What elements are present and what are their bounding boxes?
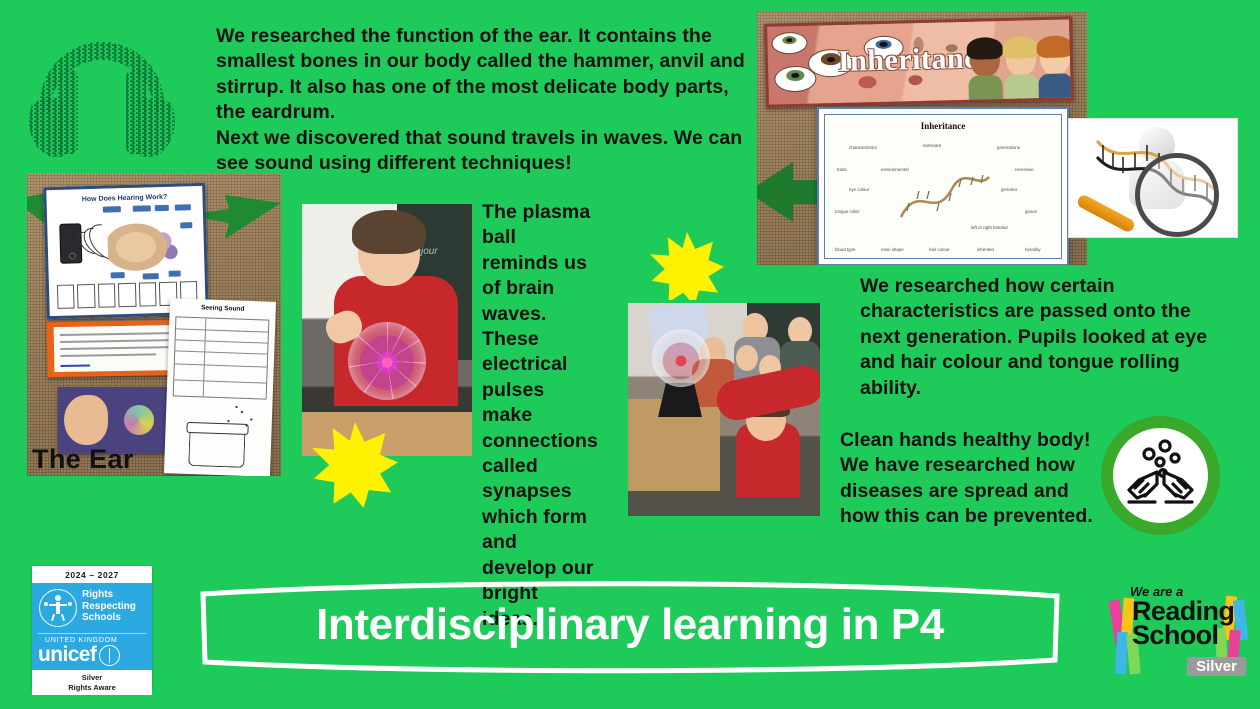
poster-word: heredity xyxy=(1025,247,1041,252)
inheritance-paragraph: We researched how certain characteristic… xyxy=(860,274,1232,401)
ear-research-paragraph: We researched the function of the ear. I… xyxy=(216,24,746,176)
poster-word: recessive xyxy=(1015,167,1034,172)
poster-word: generations xyxy=(997,145,1020,150)
green-arrow-icon xyxy=(757,162,793,222)
poster-word: traits xyxy=(837,167,847,172)
inheritance-word-poster: Inheritance characteristics dominant gen… xyxy=(817,107,1069,265)
dna-magnifying-glass-image xyxy=(1068,118,1238,238)
phone-illustration xyxy=(59,223,82,264)
poster-word: nose shape xyxy=(881,247,904,252)
reading-school-badge: We are a Reading School Silver xyxy=(1110,582,1250,678)
boy-plasma-ball-photo xyxy=(300,202,474,458)
poster-word: hair colour xyxy=(929,247,950,252)
plasma-ball-paragraph: The plasma ball reminds us of brain wave… xyxy=(482,200,594,632)
plasma-ball xyxy=(348,322,426,400)
rrs-line-1: Rights xyxy=(82,589,136,601)
seeing-sound-worksheet: Seeing Sound xyxy=(164,298,276,476)
handwashing-icon xyxy=(1101,416,1220,535)
title-banner: Interdisciplinary learning in P4 xyxy=(197,578,1063,676)
hygiene-paragraph: Clean hands healthy body! We have resear… xyxy=(840,428,1105,530)
child-illustration xyxy=(965,37,1005,100)
unicef-wordmark: unicef xyxy=(38,644,96,666)
award-level: Silver xyxy=(32,673,152,683)
poster-word: inherited xyxy=(977,247,994,252)
school-label: School xyxy=(1132,620,1218,651)
plasma-ball xyxy=(652,329,710,387)
rrs-line-2: Respecting xyxy=(82,601,136,613)
child-illustration xyxy=(1035,35,1074,98)
inheritance-poster-title: Inheritance xyxy=(819,121,1067,131)
poster-word: blood type xyxy=(835,247,855,252)
poster-word: eye colour xyxy=(849,187,869,192)
poster-word: tongue roller xyxy=(835,209,859,214)
jar-illustration xyxy=(188,427,245,468)
rrs-line-3: Schools xyxy=(82,612,136,624)
headphones-wordcloud-icon xyxy=(22,12,182,157)
poster-word: characteristics xyxy=(849,145,877,150)
poster-word: dominant xyxy=(923,143,941,148)
poster-word: genes xyxy=(1025,209,1037,214)
star-burst-shape xyxy=(650,232,724,306)
page-title: Interdisciplinary learning in P4 xyxy=(197,600,1063,650)
unicef-globe-icon xyxy=(99,645,120,666)
inheritance-display-photo: Inheritance Inheritance characteristics … xyxy=(757,12,1087,265)
award-stage: Rights Aware xyxy=(32,683,152,693)
the-ear-label: The Ear xyxy=(32,444,134,475)
badge-years: 2024 – 2027 xyxy=(32,566,152,583)
seeing-sound-title: Seeing Sound xyxy=(170,303,276,314)
magnifying-glass-icon xyxy=(1135,153,1219,237)
classroom-group-plasma-ball-photo xyxy=(625,300,823,519)
hearing-poster-title: How Does Hearing Work? xyxy=(46,193,202,204)
unicef-rights-respecting-schools-badge: 2024 – 2027 Rights Respecting Schools UN… xyxy=(32,566,152,689)
dna-helix-illustration xyxy=(897,171,993,227)
poster-word: genetics xyxy=(1001,187,1017,192)
rrs-people-icon xyxy=(39,589,77,627)
reading-school-level-badge: Silver xyxy=(1187,657,1246,676)
slide-canvas: We researched the function of the ear. I… xyxy=(0,0,1260,709)
inheritance-banner: Inheritance xyxy=(764,16,1074,108)
ear-display-photo: How Does Hearing Work? xyxy=(27,173,281,476)
